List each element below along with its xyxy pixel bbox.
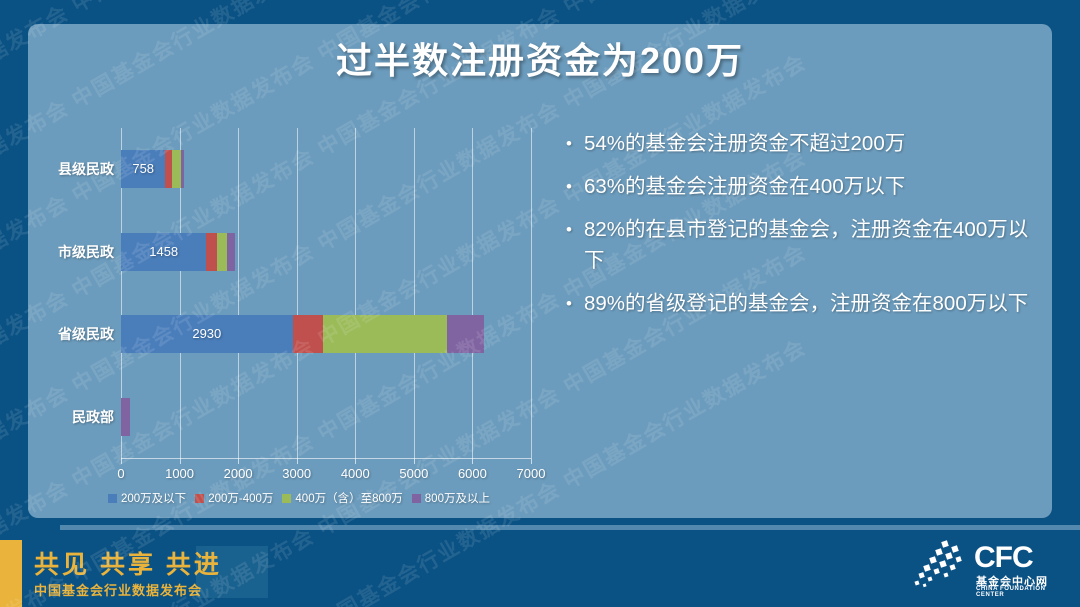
bar-segment[interactable]: 758 — [121, 150, 165, 188]
legend-swatch — [108, 494, 117, 503]
x-tick — [355, 458, 356, 464]
footer: 共见 共享 共进 中国基金会行业数据发布会 — [0, 525, 1080, 607]
x-tick — [472, 458, 473, 464]
bar-segment[interactable] — [172, 150, 181, 188]
bullet-dot-icon: • — [566, 288, 584, 319]
bullet-text: 54%的基金会注册资金不超过200万 — [584, 128, 1036, 159]
x-axis-line — [121, 458, 531, 459]
bar-segment[interactable] — [165, 150, 172, 188]
bullet-dot-icon: • — [566, 214, 584, 245]
legend-item[interactable]: 800万及以上 — [412, 490, 490, 506]
logo-wordmark: CFC — [974, 541, 1033, 575]
category-label: 县级民政 — [40, 150, 114, 188]
x-tick-label: 2000 — [208, 466, 268, 481]
legend-label: 400万（含）至800万 — [295, 490, 402, 506]
category-label: 民政部 — [40, 398, 114, 436]
legend-swatch — [282, 494, 291, 503]
page-title: 过半数注册资金为200万 — [28, 32, 1052, 84]
checkered-flag-icon — [912, 537, 972, 593]
bar-segment[interactable] — [293, 315, 323, 353]
bullet-dot-icon: • — [566, 128, 584, 159]
bar-segment[interactable] — [206, 233, 217, 271]
bar-segment[interactable]: 2930 — [121, 315, 293, 353]
bar-row — [121, 398, 531, 436]
logo-name-en: CHINA FOUNDATION CENTER — [976, 586, 1062, 598]
bar-row: 1458 — [121, 233, 531, 271]
bullet-text: 89%的省级登记的基金会，注册资金在800万以下 — [584, 288, 1036, 319]
bar-value-label: 1458 — [121, 233, 206, 271]
x-tick-label: 7000 — [501, 466, 561, 481]
bar-segment[interactable] — [121, 398, 130, 436]
x-tick — [121, 458, 122, 464]
x-tick-label: 3000 — [267, 466, 327, 481]
bar-segment[interactable] — [323, 315, 447, 353]
bar-row: 2930 — [121, 315, 531, 353]
bullet-item: •82%的在县市登记的基金会，注册资金在400万以下 — [566, 214, 1036, 276]
legend-label: 800万及以上 — [425, 490, 490, 506]
x-tick — [531, 458, 532, 464]
bar-segment[interactable] — [217, 233, 227, 271]
category-label: 市级民政 — [40, 233, 114, 271]
x-tick-label: 1000 — [150, 466, 210, 481]
bullet-list: •54%的基金会注册资金不超过200万•63%的基金会注册资金在400万以下•8… — [566, 128, 1036, 331]
legend-item[interactable]: 200万-400万 — [195, 490, 273, 506]
bar-segment[interactable] — [227, 233, 235, 271]
legend-item[interactable]: 200万及以下 — [108, 490, 186, 506]
footer-divider — [60, 525, 1080, 530]
slide-root: 过半数注册资金为200万 75814582930 010002000300040… — [0, 0, 1080, 607]
x-tick — [297, 458, 298, 464]
bar-segment[interactable] — [181, 150, 184, 188]
cfc-logo: CFC 基金会中心网 CHINA FOUNDATION CENTER — [912, 537, 1062, 597]
legend-item[interactable]: 400万（含）至800万 — [282, 490, 402, 506]
legend-label: 200万及以下 — [121, 490, 186, 506]
stacked-bar-chart: 75814582930 0100020003000400050006000700… — [40, 118, 550, 513]
x-tick — [414, 458, 415, 464]
footer-accent-bar — [0, 540, 22, 607]
legend-swatch — [412, 494, 421, 503]
bullet-item: •54%的基金会注册资金不超过200万 — [566, 128, 1036, 159]
category-label: 省级民政 — [40, 315, 114, 353]
footer-subtitle: 中国基金会行业数据发布会 — [34, 580, 202, 599]
x-tick-label: 5000 — [384, 466, 444, 481]
chart-plot-area: 75814582930 — [121, 128, 531, 458]
bullet-item: •89%的省级登记的基金会，注册资金在800万以下 — [566, 288, 1036, 319]
bullet-item: •63%的基金会注册资金在400万以下 — [566, 171, 1036, 202]
legend-swatch — [195, 494, 204, 503]
bullet-text: 82%的在县市登记的基金会，注册资金在400万以下 — [584, 214, 1036, 276]
bar-value-label: 758 — [121, 150, 165, 188]
chart-legend: 200万及以下200万-400万400万（含）至800万800万及以上 — [108, 490, 578, 506]
bar-value-label: 2930 — [121, 315, 293, 353]
bar-row: 758 — [121, 150, 531, 188]
x-tick-label: 0 — [91, 466, 151, 481]
x-tick-label: 4000 — [325, 466, 385, 481]
bar-segment[interactable] — [447, 315, 484, 353]
bar-segment[interactable]: 1458 — [121, 233, 206, 271]
footer-slogan: 共见 共享 共进 — [34, 545, 222, 581]
x-tick-label: 6000 — [442, 466, 502, 481]
grid-line — [531, 128, 532, 458]
x-tick — [238, 458, 239, 464]
bullet-text: 63%的基金会注册资金在400万以下 — [584, 171, 1036, 202]
bullet-dot-icon: • — [566, 171, 584, 202]
legend-label: 200万-400万 — [208, 490, 273, 506]
x-tick — [180, 458, 181, 464]
